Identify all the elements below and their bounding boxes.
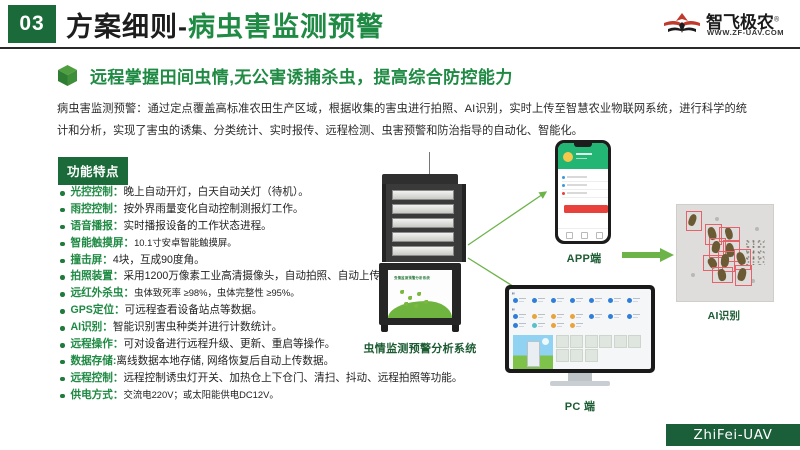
dashboard-stat xyxy=(551,297,565,304)
feature-separator: ： xyxy=(113,389,124,401)
feature-description: 10.1寸安卓智能触摸屏。 xyxy=(134,237,237,248)
feature-separator: ： xyxy=(113,372,124,384)
dashboard-stat xyxy=(532,297,546,304)
thumbnail xyxy=(585,349,598,362)
dashboard-stat xyxy=(627,313,641,320)
feature-text: 撞击屏：4块，互成90度角。 xyxy=(71,254,205,267)
bullet-dot-icon xyxy=(60,309,65,314)
logo-registered-mark: ® xyxy=(774,16,779,23)
feature-term: 智能触摸屏 xyxy=(71,237,124,249)
dashboard-stat xyxy=(532,322,546,329)
feature-item: 远程控制：远程控制诱虫灯开关、加热仓上下仓门、清扫、抖动、远程拍照等功能。 xyxy=(60,372,410,385)
photo-device xyxy=(527,341,540,367)
mobile-app-image: › › › xyxy=(555,140,611,244)
feature-description: 离线数据本地存储, 网络恢复后自动上传数据。 xyxy=(116,355,334,367)
phone-tabbar xyxy=(558,228,608,241)
subtitle-text: 远程掌握田间虫情,无公害诱捕杀虫，提高综合防控能力 xyxy=(90,63,513,88)
feature-description: 4块，互成90度角。 xyxy=(113,254,205,266)
feature-term: 远程控制 xyxy=(71,372,113,384)
feature-separator: ： xyxy=(113,270,124,282)
bullet-dot-icon xyxy=(60,225,65,230)
brand-logo: 智飞极农® WWW.ZF-UAV.COM xyxy=(662,7,794,43)
slide-root: 03 方案细则- 病虫害监测预警 智飞极农® WWW.ZF-UAV.COM xyxy=(0,0,800,450)
dashboard-stat xyxy=(608,313,622,320)
feature-item: 供电方式：交流电220V；或太阳能供电DC12V。 xyxy=(60,389,410,402)
bullet-dot-icon xyxy=(60,394,65,399)
feature-term: 数据存储 xyxy=(71,355,113,367)
phone-screen: › › › xyxy=(558,143,608,241)
feature-item: 拍照装置：采用1200万像素工业高清摄像头，自动拍照、自动上传。 xyxy=(60,270,410,283)
feature-item: 撞击屏：4块，互成90度角。 xyxy=(60,254,410,267)
feature-text: 数据存储:离线数据本地存储, 网络恢复后自动上传数据。 xyxy=(71,355,335,368)
dashboard-stat xyxy=(513,322,527,329)
feature-text: 光控控制：晚上自动开灯，白天自动关灯（待机）。 xyxy=(71,186,309,199)
feature-description: 虫体致死率 ≥98%，虫体完整性 ≥95%。 xyxy=(134,287,300,298)
page-title-main: 方案细则- xyxy=(66,5,188,44)
feature-item: 雨控控制：按外界雨量变化自动控制测报灯工作。 xyxy=(60,203,410,216)
feature-description: 晚上自动开灯，白天自动关灯（待机）。 xyxy=(123,186,308,198)
feature-separator: ： xyxy=(123,237,134,249)
dashboard-stat xyxy=(551,322,565,329)
detection-box xyxy=(735,265,752,286)
section-number-badge: 03 xyxy=(8,5,56,43)
dashboard-stat xyxy=(589,297,603,304)
bullet-dot-icon xyxy=(60,208,65,213)
dashboard-stat xyxy=(570,313,584,320)
feature-separator: ： xyxy=(113,220,124,232)
dashboard-stat xyxy=(570,322,584,329)
features-list: 光控控制：晚上自动开灯，白天自动关灯（待机）。雨控控制：按外界雨量变化自动控制测… xyxy=(60,186,410,406)
feature-term: 远程操作 xyxy=(71,338,113,350)
feature-description: 可对设备进行远程升级、更新、重启等操作。 xyxy=(123,338,335,350)
feature-description: 智能识别害虫种类并进行计数统计。 xyxy=(113,321,283,333)
feature-separator: ： xyxy=(102,321,113,333)
dashboard-stat xyxy=(513,313,527,320)
feature-description: 按外界雨量变化自动控制测报灯工作。 xyxy=(123,203,303,215)
dashboard-section-label: ▮▮ xyxy=(512,308,515,311)
bullet-dot-icon xyxy=(60,292,65,297)
thumbnail xyxy=(628,335,641,348)
feature-term: AI识别 xyxy=(71,321,103,333)
feature-item: 数据存储:离线数据本地存储, 网络恢复后自动上传数据。 xyxy=(60,355,410,368)
feature-item: GPS定位：可远程查看设备站点等数据。 xyxy=(60,304,410,317)
watermark-text: ZhiFei-UAV xyxy=(666,424,800,446)
feature-term: 远红外杀虫 xyxy=(71,287,124,299)
feature-term: 语音播报 xyxy=(71,220,113,232)
phone-notch xyxy=(574,143,592,147)
feature-separator: ： xyxy=(102,254,113,266)
thumbnail xyxy=(599,335,612,348)
phone-list-item: › xyxy=(562,190,608,198)
intro-paragraph: 病虫害监测预警：通过定点覆盖高标准农田生产区域，根据收集的害虫进行拍照、AI识别… xyxy=(57,99,747,143)
features-label: 功能特点 xyxy=(58,157,128,185)
bullet-dot-icon xyxy=(60,343,65,348)
feature-text: 拍照装置：采用1200万像素工业高清摄像头，自动拍照、自动上传。 xyxy=(71,270,391,283)
feature-separator: ： xyxy=(114,304,125,316)
dashboard-stat xyxy=(570,297,584,304)
feature-separator: ： xyxy=(123,287,134,299)
bullet-dot-icon xyxy=(60,326,65,331)
phone-caption: APP端 xyxy=(520,250,648,266)
device-antenna xyxy=(429,152,430,174)
bullet-dot-icon xyxy=(60,360,65,365)
phone-list-item: › xyxy=(562,174,608,182)
dashboard-live-photo xyxy=(513,335,553,369)
thumbnail xyxy=(585,335,598,348)
device-panel-title: 虫情监测预警分析系统 xyxy=(394,275,430,280)
device-legs xyxy=(379,325,461,332)
ai-caption: AI识别 xyxy=(676,308,772,323)
feature-separator: ： xyxy=(113,186,124,198)
feature-text: AI识别：智能识别害虫种类并进行计数统计。 xyxy=(71,321,283,334)
dashboard-stat xyxy=(532,313,546,320)
feature-text: 雨控控制：按外界雨量变化自动控制测报灯工作。 xyxy=(71,203,304,216)
feature-item: AI识别：智能识别害虫种类并进行计数统计。 xyxy=(60,321,410,334)
feature-item: 智能触摸屏：10.1寸安卓智能触摸屏。 xyxy=(60,237,410,250)
dashboard-stat xyxy=(513,297,527,304)
feature-term: 撞击屏 xyxy=(71,254,103,266)
phone-avatar-icon xyxy=(563,152,573,162)
feature-separator: ： xyxy=(113,203,124,215)
sun-glare xyxy=(542,338,549,345)
logo-url: WWW.ZF-UAV.COM xyxy=(707,28,784,37)
feature-text: 远红外杀虫：虫体致死率 ≥98%，虫体完整性 ≥95%。 xyxy=(71,287,300,300)
feature-text: 远程操作：可对设备进行远程升级、更新、重启等操作。 xyxy=(71,338,336,351)
feature-term: 供电方式 xyxy=(71,389,113,401)
feature-text: 智能触摸屏：10.1寸安卓智能触摸屏。 xyxy=(71,237,237,250)
thumbnail xyxy=(614,335,627,348)
ai-detection-image xyxy=(676,204,774,302)
feature-text: GPS定位：可远程查看设备站点等数据。 xyxy=(71,304,263,317)
bullet-dot-icon xyxy=(60,275,65,280)
device-front-panel: 虫情监测预警分析系统 xyxy=(388,270,452,318)
thumbnail xyxy=(570,335,583,348)
device-cabinet: 虫情监测预警分析系统 xyxy=(379,263,461,325)
device-panel-graphic xyxy=(388,301,452,318)
feature-description: 交流电220V；或太阳能供电DC12V。 xyxy=(123,389,278,400)
thumbnail xyxy=(570,349,583,362)
feature-text: 供电方式：交流电220V；或太阳能供电DC12V。 xyxy=(71,389,279,402)
dashboard-stat xyxy=(608,297,622,304)
feature-item: 光控控制：晚上自动开灯，白天自动关灯（待机）。 xyxy=(60,186,410,199)
device-caption: 虫情监测预警分析系统 xyxy=(332,340,508,356)
thumbnail xyxy=(556,335,569,348)
bullet-dot-icon xyxy=(60,242,65,247)
bullet-dot-icon xyxy=(60,259,65,264)
feature-term: 光控控制 xyxy=(71,186,113,198)
dashboard-stat xyxy=(551,313,565,320)
eagle-wings-logo-icon xyxy=(662,11,702,37)
feature-item: 语音播报：实时播报设备的工作状态进程。 xyxy=(60,220,410,233)
feature-description: 远程控制诱虫灯开关、加热仓上下仓门、清扫、抖动、远程拍照等功能。 xyxy=(123,372,462,384)
feature-description: 实时播报设备的工作状态进程。 xyxy=(123,220,271,232)
phone-tab-icon xyxy=(581,232,588,239)
detection-box xyxy=(712,267,733,283)
page-title: 方案细则- 病虫害监测预警 xyxy=(66,3,384,45)
slide-header: 03 方案细则- 病虫害监测预警 智飞极农® WWW.ZF-UAV.COM xyxy=(0,0,800,48)
feature-description: 采用1200万像素工业高清摄像头，自动拍照、自动上传。 xyxy=(123,270,390,282)
insect-monitoring-device-image: 虫情监测预警分析系统 xyxy=(374,160,466,335)
phone-header-subline xyxy=(576,158,587,160)
feature-term: 拍照装置 xyxy=(71,270,113,282)
phone-tab-icon xyxy=(566,232,573,239)
dashboard-section-label: ▮▮ xyxy=(512,292,515,295)
feature-separator: ： xyxy=(113,338,124,350)
phone-tab-icon xyxy=(596,232,603,239)
detection-box xyxy=(686,211,702,231)
phone-list-item: › xyxy=(562,182,608,190)
header-divider xyxy=(0,47,800,49)
feature-term: 雨控控制 xyxy=(71,203,113,215)
dashboard-thumbnail-grid xyxy=(556,335,651,364)
subtitle-row: 远程掌握田间虫情,无公害诱捕杀虫，提高综合防控能力 xyxy=(56,60,513,90)
dashboard-stat xyxy=(627,297,641,304)
dashboard-stat xyxy=(589,313,603,320)
bullet-dot-icon xyxy=(60,191,65,196)
feature-text: 语音播报：实时播报设备的工作状态进程。 xyxy=(71,220,272,233)
feature-description: 可远程查看设备站点等数据。 xyxy=(125,304,263,316)
pc-dashboard-image: ▮▮ ▮▮ xyxy=(505,285,655,385)
bullet-dot-icon xyxy=(60,377,65,382)
feature-item: 远红外杀虫：虫体致死率 ≥98%，虫体完整性 ≥95%。 xyxy=(60,287,410,300)
phone-header-line xyxy=(576,153,592,155)
page-title-accent: 病虫害监测预警 xyxy=(188,5,384,44)
feature-term: GPS定位 xyxy=(71,304,115,316)
phone-primary-button xyxy=(564,205,608,213)
monitor-bezel: ▮▮ ▮▮ xyxy=(505,285,655,373)
monitor-screen: ▮▮ ▮▮ xyxy=(509,289,651,369)
device-lamp-cage xyxy=(382,184,466,262)
thumbnail xyxy=(556,349,569,362)
monitor-caption: PC 端 xyxy=(505,398,655,414)
feature-text: 远程控制：远程控制诱虫灯开关、加热仓上下仓门、清扫、抖动、远程拍照等功能。 xyxy=(71,372,463,385)
monitor-stand-base xyxy=(550,381,610,386)
green-cube-icon xyxy=(56,64,79,87)
